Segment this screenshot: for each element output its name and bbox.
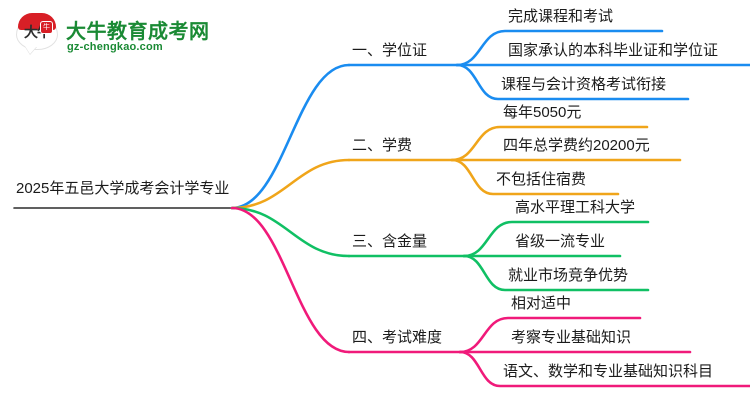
leaf-label-3-2: 省级一流专业 — [515, 234, 605, 249]
connector-path — [232, 208, 349, 352]
logo-url: gz-chengkao.com — [67, 41, 163, 53]
leaf-label-1-1: 完成课程和考试 — [508, 9, 613, 24]
logo-title: 大牛教育成考网 — [66, 15, 210, 44]
logo-badge-icon: 大牛 牛 — [14, 10, 60, 54]
logo-bubble-tail — [25, 46, 37, 54]
leaf-label-4-3: 语文、数学和专业基础知识科目 — [503, 364, 713, 379]
mindmap-connectors — [0, 0, 750, 410]
leaf-label-3-1: 高水平理工科大学 — [515, 200, 635, 215]
mindmap-canvas: 大牛 牛 大牛教育成考网 gz-chengkao.com 2025年五邑大学成考… — [0, 0, 750, 410]
leaf-label-3-3: 就业市场竞争优势 — [508, 268, 628, 283]
leaf-label-4-2: 考察专业基础知识 — [511, 330, 631, 345]
branch-label-1: 一、学位证 — [352, 43, 427, 58]
leaf-label-2-1: 每年5050元 — [503, 105, 581, 120]
logo-seal-icon: 牛 — [40, 21, 53, 34]
leaf-label-2-3: 不包括住宿费 — [496, 172, 586, 187]
connector-path — [232, 65, 349, 208]
branch-label-4: 四、考试难度 — [352, 330, 442, 345]
leaf-label-1-2: 国家承认的本科毕业证和学位证 — [508, 43, 718, 58]
root-node-label: 2025年五邑大学成考会计学专业 — [16, 181, 229, 196]
leaf-label-1-3: 课程与会计资格考试衔接 — [501, 77, 666, 92]
branch-label-2: 二、学费 — [352, 138, 412, 153]
branch-label-3: 三、含金量 — [352, 234, 427, 249]
connector-path — [232, 208, 349, 256]
site-logo: 大牛 牛 大牛教育成考网 gz-chengkao.com — [14, 8, 214, 58]
leaf-label-4-1: 相对适中 — [511, 296, 571, 311]
connector-path — [232, 160, 349, 208]
leaf-label-2-2: 四年总学费约20200元 — [503, 138, 650, 153]
